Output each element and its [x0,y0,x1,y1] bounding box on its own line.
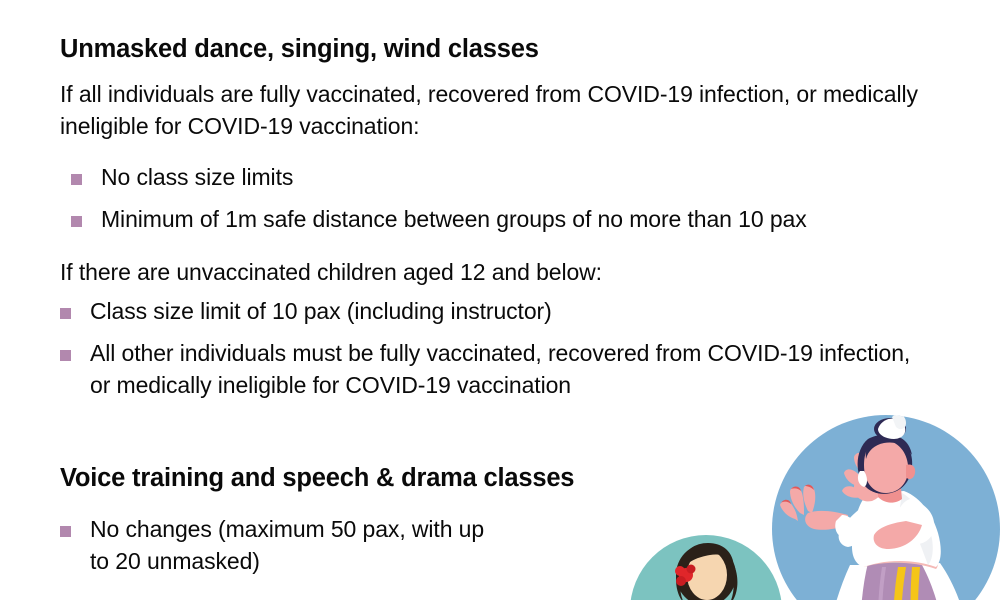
spacer [60,142,920,162]
spacer [60,236,920,256]
section-1-lead-text: If all individuals are fully vaccinated,… [60,78,920,142]
spacer [60,493,920,514]
square-bullet-icon [71,174,82,185]
section-2-title: Voice training and speech & drama classe… [60,463,920,493]
spacer [60,288,920,296]
list-item: All other individuals must be fully vacc… [60,338,920,401]
section-2-bullet-list: No changes (maximum 50 pax, with up to 2… [60,514,920,577]
section-1-bullet-list-2: Class size limit of 10 pax (including in… [60,296,920,401]
list-item: Class size limit of 10 pax (including in… [60,296,920,328]
list-item: Minimum of 1m safe distance between grou… [60,204,920,236]
spacer [60,401,920,463]
square-bullet-icon [60,350,71,361]
list-item: No changes (maximum 50 pax, with up to 2… [60,514,920,577]
section-1-lead-text-2: If there are unvaccinated children aged … [60,256,920,288]
list-item: No class size limits [60,162,920,194]
square-bullet-icon [60,526,71,537]
list-item-label: Minimum of 1m safe distance between grou… [101,206,807,232]
slide-canvas: Unmasked dance, singing, wind classes If… [0,0,1000,600]
list-item-label: No class size limits [101,164,293,190]
spacer [60,64,920,78]
square-bullet-icon [71,216,82,227]
list-item-label: All other individuals must be fully vacc… [90,340,910,398]
section-1-bullet-list: No class size limits Minimum of 1m safe … [60,162,920,235]
list-item-label: No changes (maximum 50 pax, with up to 2… [90,514,490,577]
page-title: Unmasked dance, singing, wind classes [60,34,920,64]
square-bullet-icon [60,308,71,319]
slide-content: Unmasked dance, singing, wind classes If… [60,34,920,578]
list-item-label: Class size limit of 10 pax (including in… [90,298,552,324]
